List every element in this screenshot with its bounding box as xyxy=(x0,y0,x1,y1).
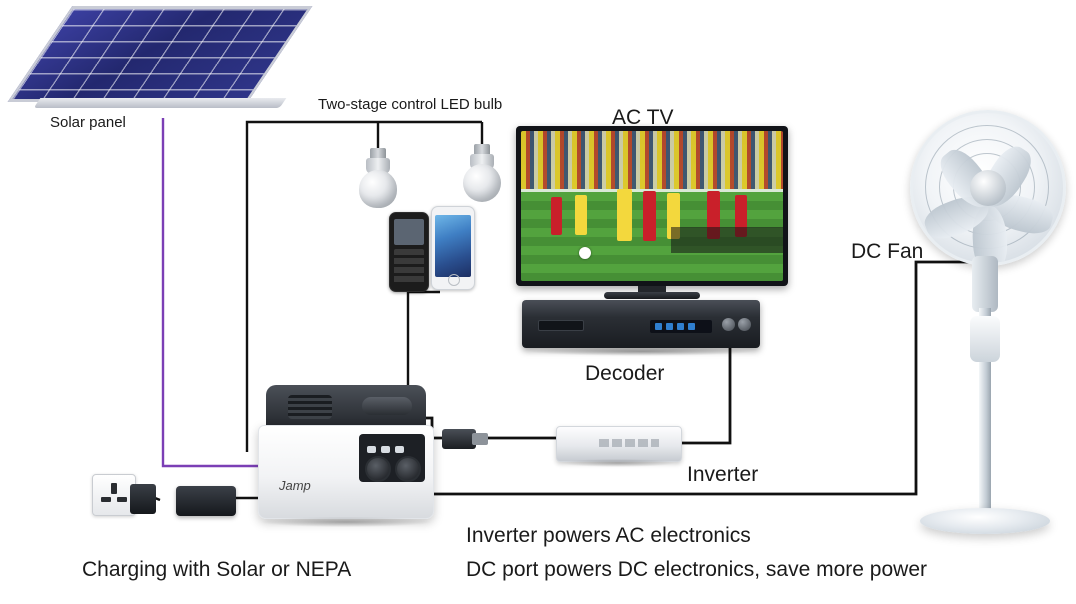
label-led-bulb: Two-stage control LED bulb xyxy=(318,96,502,113)
label-ac-tv: AC TV xyxy=(612,106,673,130)
decoder-knob[interactable] xyxy=(738,318,751,331)
label-charging: Charging with Solar or NEPA xyxy=(82,558,351,582)
decoder-display-segment xyxy=(655,323,662,330)
decoder-display-segment xyxy=(688,323,695,330)
fan-base xyxy=(920,508,1050,534)
tv-stand-base xyxy=(604,292,700,299)
solar-panel-face xyxy=(8,6,313,102)
solar-panel-frame xyxy=(34,98,287,108)
car-plug-barrel xyxy=(442,429,476,449)
decoder-shadow xyxy=(528,347,754,356)
bulb-glass xyxy=(463,164,501,202)
decoder-knob[interactable] xyxy=(722,318,735,331)
tv-ticker xyxy=(671,227,783,253)
fan-guard xyxy=(910,110,1066,266)
solar-panel-cells xyxy=(13,9,308,99)
brand-text: Jamp xyxy=(279,478,311,493)
tv-player xyxy=(617,189,632,241)
wire-station-to-fan xyxy=(424,262,978,494)
led-bulb-right xyxy=(461,144,503,206)
decoder-body xyxy=(522,300,760,348)
decoder-display-segment xyxy=(677,323,684,330)
output-panel xyxy=(359,434,425,482)
vent-grille-icon xyxy=(288,395,332,419)
feature-phone-screen xyxy=(394,219,424,245)
solar-panel xyxy=(40,6,320,126)
car-plug xyxy=(442,424,500,454)
power-station-body: Jamp xyxy=(258,425,434,519)
smart-phone xyxy=(431,206,475,290)
power-button[interactable] xyxy=(367,446,376,453)
ac-tv xyxy=(516,126,788,296)
dc-socket[interactable] xyxy=(395,456,421,482)
brand-logo: Jamp xyxy=(279,478,331,496)
power-station-shadow xyxy=(262,517,430,527)
decoder xyxy=(522,300,760,356)
inverter-label-strip xyxy=(599,439,659,447)
decoder-display xyxy=(650,320,712,333)
power-station: Jamp xyxy=(258,385,434,527)
fan-control-box[interactable] xyxy=(970,316,1000,362)
ac-button[interactable] xyxy=(395,446,404,453)
feature-phone xyxy=(389,212,429,292)
decoder-display-segment xyxy=(666,323,673,330)
car-plug-tip xyxy=(472,433,488,445)
ac-adapter xyxy=(176,486,236,516)
label-inverter: Inverter xyxy=(687,463,758,487)
socket-live-hole xyxy=(101,497,111,502)
label-dc-fan: DC Fan xyxy=(851,240,923,264)
socket-earth-hole xyxy=(111,483,117,494)
inverter-body xyxy=(556,426,682,462)
tv-player xyxy=(551,197,562,235)
note-dc-port: DC port powers DC electronics, save more… xyxy=(466,558,927,582)
inverter xyxy=(556,426,680,466)
dc-button[interactable] xyxy=(381,446,390,453)
label-decoder: Decoder xyxy=(585,362,664,386)
ac-socket[interactable] xyxy=(365,456,391,482)
label-solar-panel: Solar panel xyxy=(50,114,126,131)
tv-player xyxy=(643,191,656,241)
decoder-card-slot xyxy=(538,320,584,331)
dc-fan xyxy=(900,110,1070,530)
diagram-canvas: Solar panel Two-stage control LED bulb xyxy=(0,0,1076,604)
carry-handle xyxy=(362,397,412,415)
power-station-top xyxy=(266,385,426,429)
led-bulb-left xyxy=(357,148,399,210)
fan-hub xyxy=(970,170,1006,206)
smart-phone-screen xyxy=(435,215,471,277)
tv-ball xyxy=(579,247,591,259)
tv-screen xyxy=(521,131,783,281)
note-inverter-ac: Inverter powers AC electronics xyxy=(466,524,751,548)
mains-plug xyxy=(130,484,156,514)
feature-phone-keypad xyxy=(394,249,424,285)
tv-player xyxy=(575,195,587,235)
bulb-glass xyxy=(359,170,397,208)
wire-solar-panel-to-station xyxy=(163,118,266,466)
tv-crowd xyxy=(521,131,783,189)
socket-neutral-hole xyxy=(117,497,127,502)
inverter-shadow xyxy=(562,459,674,467)
home-button-icon xyxy=(448,274,460,286)
fan-neck xyxy=(972,256,998,312)
